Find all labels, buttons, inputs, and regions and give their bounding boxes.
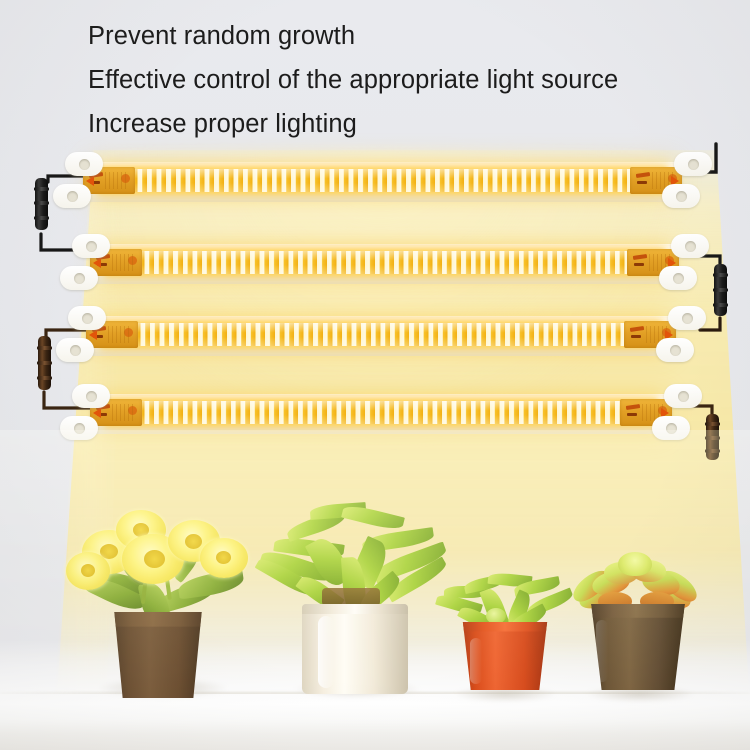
led-bar-1-mount-tab-bottom-left[interactable] [53, 184, 91, 208]
led-bar-1-strip [99, 169, 666, 192]
led-bar-4[interactable] [62, 388, 700, 442]
led-bar-1-mount-tab-top-left[interactable] [65, 152, 103, 176]
led-bar-2-strip [106, 251, 663, 274]
plant-succulent-pot [586, 604, 690, 690]
plant-yellow-flowers-pot [106, 612, 210, 698]
led-bar-2[interactable] [62, 238, 707, 292]
headline-line-1: Prevent random growth [88, 14, 738, 58]
led-bar-2-mount-tab-bottom-right[interactable] [659, 266, 697, 290]
led-bar-2-mount-tab-top-right[interactable] [671, 234, 709, 258]
white-table-surface [0, 694, 750, 750]
led-bar-2-mount-tab-top-left[interactable] [72, 234, 110, 258]
connector-left-upper [35, 178, 48, 230]
led-bar-3-housing-lip [86, 346, 676, 356]
headline-line-2: Effective control of the appropriate lig… [88, 58, 738, 102]
led-bar-4-strip [106, 401, 656, 424]
led-bar-3-mount-tab-bottom-right[interactable] [656, 338, 694, 362]
headline-line-3: Increase proper lighting [88, 102, 738, 146]
product-scene: Prevent random growth Effective control … [0, 0, 750, 750]
plant-fern [250, 492, 460, 700]
led-bar-2-housing-lip [90, 274, 679, 284]
led-bar-3[interactable] [58, 310, 704, 364]
plant-fern-pot [302, 604, 408, 694]
led-bar-1-mount-tab-bottom-right[interactable] [662, 184, 700, 208]
led-bar-3-mount-tab-bottom-left[interactable] [56, 338, 94, 362]
led-bar-4-mount-tab-top-right[interactable] [664, 384, 702, 408]
led-bar-4-housing-lip [90, 424, 672, 434]
led-bar-3-mount-tab-top-right[interactable] [668, 306, 706, 330]
plant-fern-foliage [250, 492, 460, 618]
led-bar-4-mount-tab-top-left[interactable] [72, 384, 110, 408]
led-bar-1-mount-tab-top-right[interactable] [674, 152, 712, 176]
plant-small-herb [430, 560, 580, 700]
plant-succulent [560, 548, 720, 700]
connector-right-lower [706, 414, 719, 460]
plant-yellow-flowers-foliage [60, 500, 270, 630]
connector-left-lower [38, 336, 51, 390]
led-bar-4-mount-tab-bottom-left[interactable] [60, 416, 98, 440]
led-bar-1-housing-lip [83, 192, 682, 202]
plant-yellow-flowers [60, 500, 270, 700]
headline-text-block: Prevent random growth Effective control … [88, 14, 738, 146]
led-bar-4-mount-tab-bottom-right[interactable] [652, 416, 690, 440]
led-bar-3-strip [102, 323, 660, 346]
led-bar-2-mount-tab-bottom-left[interactable] [60, 266, 98, 290]
led-bar-1[interactable] [55, 156, 710, 210]
led-bar-3-mount-tab-top-left[interactable] [68, 306, 106, 330]
plant-small-herb-pot [456, 622, 554, 690]
connector-right-upper [714, 264, 727, 316]
